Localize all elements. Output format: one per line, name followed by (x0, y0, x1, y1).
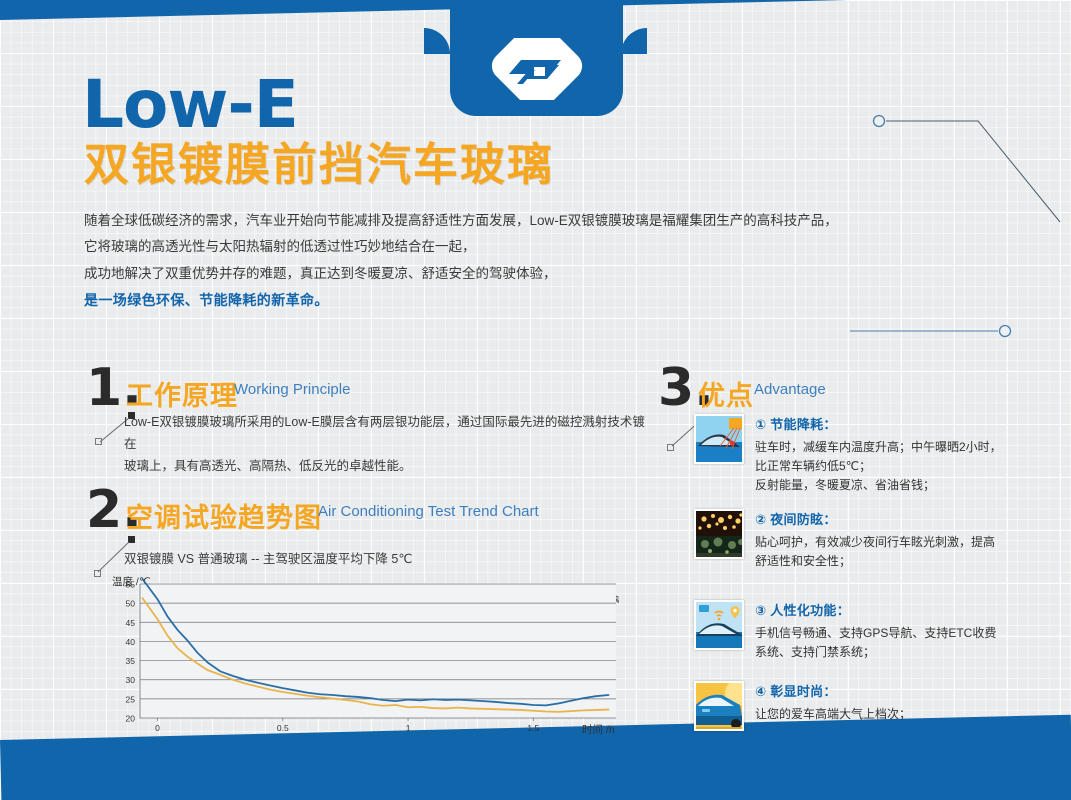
svg-text:1: 1 (406, 723, 411, 733)
section-3-lead-square (667, 444, 674, 451)
advantage-3-title: ③ 人性化功能： (755, 600, 996, 619)
ac-temperature-line-chart: 202530354045505500.511.5 (108, 578, 620, 738)
advantage-2-title: ② 夜间防眩： (755, 509, 995, 528)
fuyao-diamond-logo (487, 38, 587, 100)
section-1-title-cn: 工作原理 (126, 374, 238, 413)
advantage-1-title-text: 节能降耗： (770, 417, 837, 432)
advantage-2-body-line-2: 舒适性和安全性； (755, 552, 995, 571)
advantage-item-4: ④ 彰显时尚： 让您的爱车高端大气上档次； (694, 681, 911, 731)
advantage-4-body-line-1: 让您的爱车高端大气上档次； (755, 705, 911, 724)
advantage-1-body-line-2: 比正常车辆约低5℃； (755, 457, 1002, 476)
svg-text:45: 45 (126, 618, 136, 628)
section-3-title-en: Advantage (754, 381, 826, 398)
section-2-body-line-1: 双银镀膜 VS 普通玻璃 -- 主驾驶区温度平均下降 5℃ (124, 549, 644, 571)
advantage-item-1: ① 节能降耗： 驻车时，减缓车内温度升高；中午曝晒2小时， 比正常车辆约低5℃；… (694, 414, 1002, 496)
advantage-3-body-line-2: 系统、支持门禁系统； (755, 643, 996, 662)
section-3-title-cn: 优点 (698, 374, 754, 413)
advantage-3-index: ③ (755, 603, 766, 618)
advantage-1-title: ① 节能降耗： (755, 414, 1002, 433)
section-2-lead-square (94, 570, 101, 577)
svg-text:25: 25 (126, 694, 136, 704)
svg-text:55: 55 (126, 580, 136, 590)
svg-text:0.5: 0.5 (277, 723, 289, 733)
advantage-3-title-text: 人性化功能： (770, 603, 850, 618)
advantage-1-body-line-1: 驻车时，减缓车内温度升高；中午曝晒2小时， (755, 438, 1002, 457)
poster-canvas: Low-E 双银镀膜前挡汽车玻璃 随着全球低碳经济的需求，汽车业开始向节能减排及… (0, 0, 1071, 800)
advantage-1-text: ① 节能降耗： 驻车时，减缓车内温度升高；中午曝晒2小时， 比正常车辆约低5℃；… (755, 414, 1002, 496)
advantage-2-index: ② (755, 512, 766, 527)
advantage-2-body: 贴心呵护，有效减少夜间行车眩光刺激，提高 舒适性和安全性； (755, 533, 995, 571)
svg-text:50: 50 (126, 599, 136, 609)
svg-text:20: 20 (126, 714, 136, 724)
section-1-body-line-2: 玻璃上，具有高透光、高隔热、低反光的卓越性能。 (124, 456, 654, 478)
intro-highlight: 是一场绿色环保、节能降耗的新革命。 (84, 290, 329, 310)
advantage-4-index: ④ (755, 684, 766, 699)
section-1-lead-square (95, 438, 102, 445)
intro-line-3: 成功地解决了双重优势并存的难题，真正达到冬暖夏凉、舒适安全的驾驶体验， (84, 261, 934, 287)
page-title-chinese: 双银镀膜前挡汽车玻璃 (84, 141, 554, 188)
advantage-4-text: ④ 彰显时尚： 让您的爱车高端大气上档次； (755, 681, 911, 731)
advantage-2-title-text: 夜间防眩： (770, 512, 837, 527)
intro-line-1: 随着全球低碳经济的需求，汽车业开始向节能减排及提高舒适性方面发展，Low-E双银… (84, 208, 934, 234)
gps-signal-car-thumbnail (694, 600, 744, 650)
blue-sports-car-thumbnail (694, 681, 744, 731)
section-1-title-en: Working Principle (234, 381, 350, 398)
section-2-lead-dot (128, 536, 135, 543)
svg-text:30: 30 (126, 675, 136, 685)
section-2-title-en: Air Conditioning Test Trend Chart (318, 503, 539, 520)
advantage-3-body-line-1: 手机信号畅通、支持GPS导航、支持ETC收费 (755, 624, 996, 643)
advantage-3-body: 手机信号畅通、支持GPS导航、支持ETC收费 系统、支持门禁系统； (755, 624, 996, 662)
advantage-4-title-text: 彰显时尚： (770, 684, 837, 699)
svg-text:1.5: 1.5 (527, 723, 539, 733)
svg-text:40: 40 (126, 637, 136, 647)
advantage-3-text: ③ 人性化功能： 手机信号畅通、支持GPS导航、支持ETC收费 系统、支持门禁系… (755, 600, 996, 662)
advantage-1-body: 驻车时，减缓车内温度升高；中午曝晒2小时， 比正常车辆约低5℃； 反射能量，冬暖… (755, 438, 1002, 496)
advantage-2-body-line-1: 贴心呵护，有效减少夜间行车眩光刺激，提高 (755, 533, 995, 552)
section-1-body: Low-E双银镀膜玻璃所采用的Low-E膜层含有两层银功能层，通过国际最先进的磁… (124, 412, 654, 478)
intro-paragraph: 随着全球低碳经济的需求，汽车业开始向节能减排及提高舒适性方面发展，Low-E双银… (84, 208, 934, 287)
section-2-body: 双银镀膜 VS 普通玻璃 -- 主驾驶区温度平均下降 5℃ (124, 549, 644, 571)
car-windshield-sun-thumbnail (694, 414, 744, 464)
section-1-body-line-1: Low-E双银镀膜玻璃所采用的Low-E膜层含有两层银功能层，通过国际最先进的磁… (124, 412, 654, 456)
advantage-item-2: ② 夜间防眩： 贴心呵护，有效减少夜间行车眩光刺激，提高 舒适性和安全性； (694, 509, 995, 571)
svg-text:35: 35 (126, 656, 136, 666)
page-title-english: Low-E (82, 72, 298, 138)
advantage-item-3: ③ 人性化功能： 手机信号畅通、支持GPS导航、支持ETC收费 系统、支持门禁系… (694, 600, 996, 662)
section-2-title-cn: 空调试验趋势图 (126, 496, 322, 535)
advantage-2-text: ② 夜间防眩： 贴心呵护，有效减少夜间行车眩光刺激，提高 舒适性和安全性； (755, 509, 995, 571)
svg-text:0: 0 (155, 723, 160, 733)
advantage-4-title: ④ 彰显时尚： (755, 681, 911, 700)
advantage-4-body: 让您的爱车高端大气上档次； (755, 705, 911, 724)
night-glare-lights-thumbnail (694, 509, 744, 559)
advantage-1-index: ① (755, 417, 766, 432)
advantage-1-body-line-3: 反射能量，冬暖夏凉、省油省钱； (755, 476, 1002, 495)
intro-line-2: 它将玻璃的高透光性与太阳热辐射的低透过性巧妙地结合在一起， (84, 234, 934, 260)
